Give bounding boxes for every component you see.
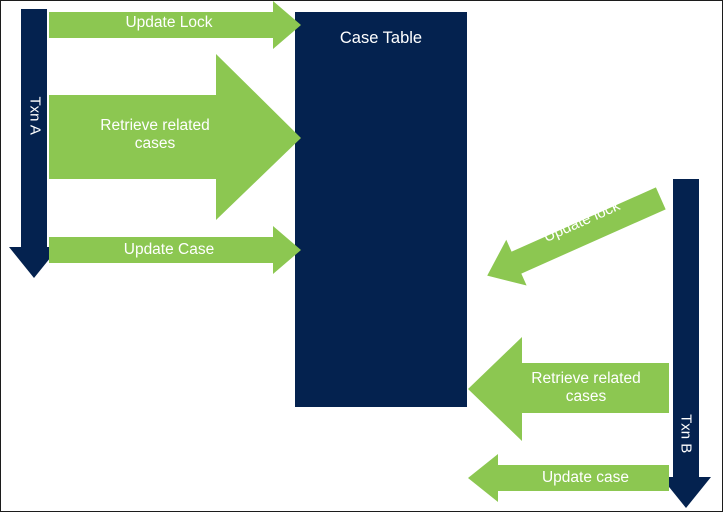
a-update-case-arrow-shape — [49, 226, 301, 274]
a-retrieve-related-cases-arrow-shape — [49, 54, 301, 220]
case-table-box-shape — [295, 12, 467, 407]
b-update-lock-arrow-shape — [477, 176, 671, 299]
b-retrieve-related-cases-arrow-shape — [468, 337, 669, 441]
diagram-canvas: Case Table Txn A Txn B Update Lock Retri… — [0, 0, 723, 512]
b-update-case-arrow-shape — [468, 454, 669, 502]
diagram-shapes — [1, 1, 723, 512]
a-update-lock-arrow-shape — [49, 1, 301, 49]
txn-b-arrow-shape — [661, 179, 711, 508]
